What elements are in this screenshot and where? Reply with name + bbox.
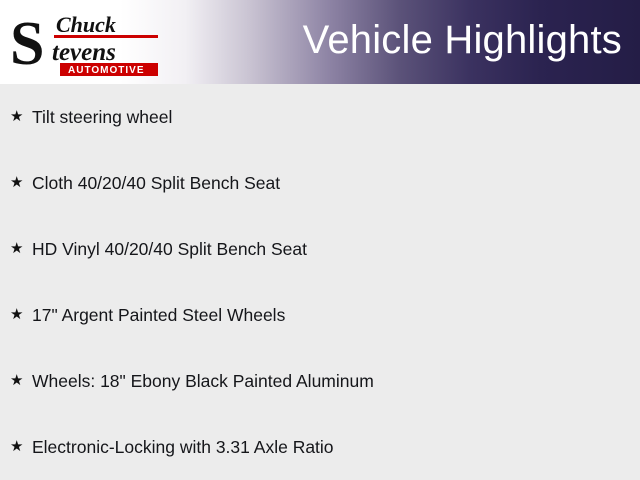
- highlight-text: Cloth 40/20/40 Split Bench Seat: [32, 172, 640, 194]
- star-icon: ★: [10, 108, 32, 126]
- page-title: Vehicle Highlights: [303, 12, 622, 68]
- list-item: ★ Wheels: 18" Ebony Black Painted Alumin…: [0, 348, 640, 414]
- svg-text:AUTOMOTIVE: AUTOMOTIVE: [68, 65, 144, 76]
- star-icon: ★: [10, 306, 32, 324]
- svg-text:S: S: [10, 10, 44, 76]
- star-icon: ★: [10, 240, 32, 258]
- page-header: S Chuck tevens AUTOMOTIVE Vehicle Highli…: [0, 0, 640, 84]
- star-icon: ★: [10, 174, 32, 192]
- svg-text:tevens: tevens: [52, 39, 116, 66]
- highlight-text: HD Vinyl 40/20/40 Split Bench Seat: [32, 238, 640, 260]
- list-item: ★ Cloth 40/20/40 Split Bench Seat: [0, 150, 640, 216]
- highlight-text: Wheels: 18" Ebony Black Painted Aluminum: [32, 370, 640, 392]
- vehicle-highlights-page: S Chuck tevens AUTOMOTIVE Vehicle Highli…: [0, 0, 640, 480]
- highlight-text: Tilt steering wheel: [32, 106, 640, 128]
- highlight-text: Electronic-Locking with 3.31 Axle Ratio: [32, 436, 640, 458]
- list-item: ★ Tilt steering wheel: [0, 84, 640, 150]
- highlight-text: 17" Argent Painted Steel Wheels: [32, 304, 640, 326]
- svg-text:Chuck: Chuck: [56, 12, 116, 37]
- dealer-logo-graphic: S Chuck tevens AUTOMOTIVE: [8, 8, 168, 76]
- star-icon: ★: [10, 372, 32, 390]
- dealer-logo: S Chuck tevens AUTOMOTIVE: [8, 8, 168, 76]
- list-item: ★ Electronic-Locking with 3.31 Axle Rati…: [0, 414, 640, 480]
- star-icon: ★: [10, 438, 32, 456]
- highlights-list: ★ Tilt steering wheel ★ Cloth 40/20/40 S…: [0, 84, 640, 480]
- list-item: ★ HD Vinyl 40/20/40 Split Bench Seat: [0, 216, 640, 282]
- highlights-panel: ★ Tilt steering wheel ★ Cloth 40/20/40 S…: [0, 84, 640, 480]
- list-item: ★ 17" Argent Painted Steel Wheels: [0, 282, 640, 348]
